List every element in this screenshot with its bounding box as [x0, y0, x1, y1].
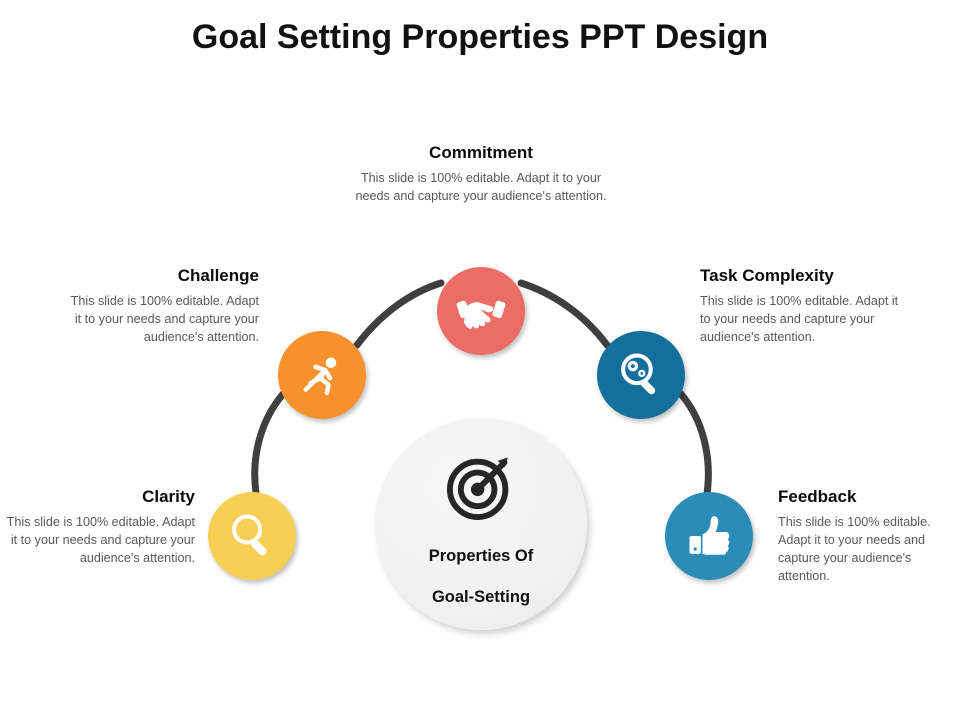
block-task-complexity: Task Complexity This slide is 100% edita… [700, 266, 900, 347]
block-commitment-body: This slide is 100% editable. Adapt it to… [348, 170, 614, 206]
magnifier-gears-icon [615, 349, 667, 401]
center-hub[interactable]: Properties Of Goal-Setting [375, 418, 587, 630]
block-clarity-heading: Clarity [5, 487, 195, 507]
node-challenge[interactable] [278, 331, 366, 419]
thumbs-up-icon [683, 510, 735, 562]
running-person-icon [296, 349, 348, 401]
node-task-complexity[interactable] [597, 331, 685, 419]
center-title-line-2: Goal-Setting [432, 588, 530, 607]
arc-challenge-to-commitment [357, 283, 441, 345]
block-challenge: Challenge This slide is 100% editable. A… [62, 266, 259, 347]
block-challenge-heading: Challenge [62, 266, 259, 286]
arc-commitment-to-task [521, 283, 607, 345]
node-clarity[interactable] [208, 492, 296, 580]
block-task-complexity-body: This slide is 100% editable. Adapt it to… [700, 293, 900, 347]
block-feedback-body: This slide is 100% editable. Adapt it to… [778, 514, 958, 586]
center-title-line-1: Properties Of [429, 547, 534, 566]
magnifier-icon [226, 510, 278, 562]
target-arrow-icon [439, 444, 523, 533]
node-commitment[interactable] [437, 267, 525, 355]
arc-clarity-to-challenge [255, 394, 283, 493]
arc-task-to-feedback [681, 394, 708, 494]
block-clarity: Clarity This slide is 100% editable. Ada… [5, 487, 195, 568]
block-commitment: Commitment This slide is 100% editable. … [348, 143, 614, 206]
slide-canvas: Goal Setting Properties PPT Design Prope… [0, 0, 960, 720]
block-feedback: Feedback This slide is 100% editable. Ad… [778, 487, 958, 586]
handshake-icon [455, 285, 507, 337]
block-task-complexity-heading: Task Complexity [700, 266, 900, 286]
block-clarity-body: This slide is 100% editable. Adapt it to… [5, 514, 195, 568]
node-feedback[interactable] [665, 492, 753, 580]
block-commitment-heading: Commitment [348, 143, 614, 163]
block-challenge-body: This slide is 100% editable. Adapt it to… [62, 293, 259, 347]
block-feedback-heading: Feedback [778, 487, 958, 507]
